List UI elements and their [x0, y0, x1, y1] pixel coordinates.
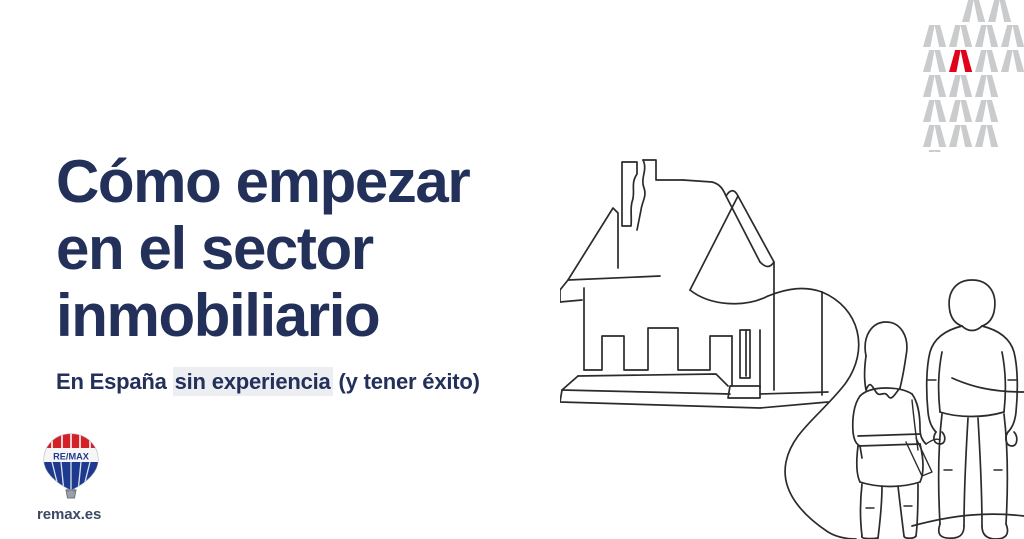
brand-url-label: remax.es: [37, 506, 156, 523]
woman-figure: [853, 322, 932, 539]
house-door: [728, 330, 760, 398]
man-figure: [927, 280, 1018, 539]
house-left-roof: [560, 208, 660, 302]
page-title: Cómo empezar en el sector inmobiliario: [56, 148, 576, 350]
remax-brand-logo[interactable]: RE/MAX remax.es: [36, 432, 156, 523]
page-title-line-2: en el sector: [56, 215, 576, 282]
line-art-illustration: [560, 140, 1024, 539]
balloon-wordmark: RE/MAX: [53, 451, 90, 461]
page-title-line-3: inmobiliario: [56, 282, 576, 349]
headline-block: Cómo empezar en el sector inmobiliario E…: [56, 148, 576, 396]
house-wall-and-windows: [560, 288, 732, 370]
house-main-roof: [683, 180, 822, 304]
subtitle-text-after: (y tener éxito): [333, 369, 480, 394]
subtitle-text-before: En España: [56, 369, 173, 394]
banner-canvas: Cómo empezar en el sector inmobiliario E…: [0, 0, 1024, 539]
page-title-line-1: Cómo empezar: [56, 148, 576, 215]
remax-balloon-icon: RE/MAX: [40, 432, 102, 504]
house-foundation: [560, 374, 828, 408]
house-chimney: [622, 160, 683, 230]
chevron-accent-red: [949, 50, 972, 72]
subtitle-highlight: sin experiencia: [173, 367, 333, 396]
house-right-wall: [774, 262, 822, 395]
remax-chevron-pattern: [910, 0, 1024, 152]
page-subtitle: En España sin experiencia (y tener éxito…: [56, 368, 576, 397]
